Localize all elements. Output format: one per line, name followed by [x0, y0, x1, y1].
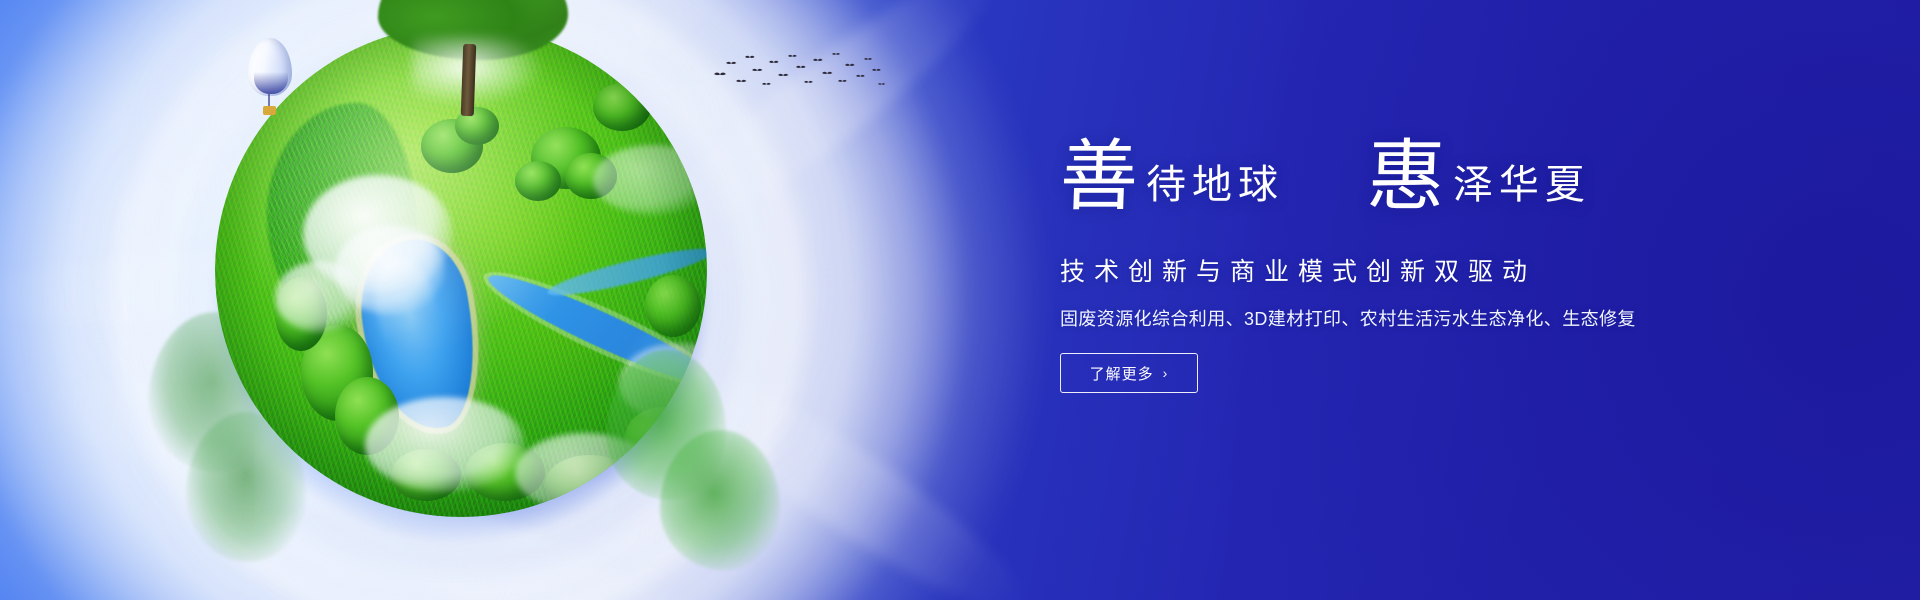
page-subtitle: 技术创新与商业模式创新双驱动: [1060, 252, 1760, 288]
headline-phrase-1-lead: 善: [1059, 140, 1140, 215]
tree-mist: [412, 36, 542, 106]
hero-banner: 善 待地球 惠 泽华夏 技术创新与商业模式创新双驱动 固废资源化综合利用、3D建…: [0, 0, 1920, 600]
headline-phrase-2: 惠 泽华夏: [1367, 140, 1591, 215]
balloon-basket: [263, 106, 276, 115]
page-description: 固废资源化综合利用、3D建材打印、农村生活污水生态净化、生态修复: [1060, 305, 1760, 331]
headline-phrase-1: 善 待地球: [1060, 140, 1284, 215]
bird-flock-icon: [712, 48, 887, 98]
headline-phrase-2-rest: 泽华夏: [1453, 165, 1591, 215]
headline-phrase-2-lead: 惠: [1366, 140, 1447, 215]
chevron-right-icon: ›: [1163, 365, 1169, 381]
hero-copy: 善 待地球 惠 泽华夏 技术创新与商业模式创新双驱动 固废资源化综合利用、3D建…: [1060, 140, 1760, 393]
page-title: 善 待地球 惠 泽华夏: [1060, 140, 1760, 232]
hot-air-balloon: [248, 38, 292, 120]
learn-more-label: 了解更多: [1090, 363, 1154, 384]
learn-more-button[interactable]: 了解更多 ›: [1060, 353, 1198, 393]
tree-on-globe: [378, 0, 568, 112]
tree-trunk: [461, 44, 477, 116]
bird-flock: [712, 48, 887, 98]
headline-phrase-1-rest: 待地球: [1146, 165, 1284, 215]
